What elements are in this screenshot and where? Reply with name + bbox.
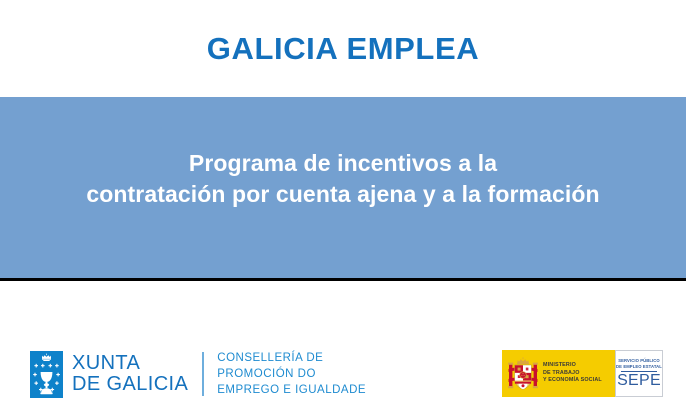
poster-root: GALICIA EMPLEA Programa de incentivos a … [0,0,686,410]
ministerio-de-trabajo-logo: MINISTERIO DE TRABAJO Y ECONOMÍA SOCIAL [502,350,615,397]
title-area: GALICIA EMPLEA [0,0,686,97]
conselleria-line-1: CONSELLERÍA DE [217,350,366,366]
xunta-de-galicia-logo: XUNTA DE GALICIA CONSELLERÍA DE PROMOCIÓ… [30,350,366,398]
banner-line-1: Programa de incentivos a la [0,148,686,178]
program-banner: Programa de incentivos a la contratación… [0,97,686,281]
ministerio-line-1: MINISTERIO [543,362,602,370]
conselleria-line-3: EMPREGO E IGUALDADE [217,382,366,398]
xunta-wordmark-line-1: XUNTA [72,353,188,374]
banner-line-2: contratación por cuenta ajena y a la for… [0,179,686,209]
ministerio-line-3: Y ECONOMÍA SOCIAL [543,377,602,385]
xunta-wordmark: XUNTA DE GALICIA [72,353,188,395]
banner-text-block: Programa de incentivos a la contratación… [0,148,686,227]
ministerio-text: MINISTERIO DE TRABAJO Y ECONOMÍA SOCIAL [543,362,602,385]
page-title: GALICIA EMPLEA [207,33,479,64]
conselleria-line-2: PROMOCIÓN DO [217,366,366,382]
government-logos-group: MINISTERIO DE TRABAJO Y ECONOMÍA SOCIAL … [502,350,663,397]
spain-coat-of-arms-icon [508,355,538,393]
sepe-logo: SERVICIO PÚBLICO DE EMPLEO ESTATAL SEPE [615,350,663,397]
galicia-coat-of-arms-icon [30,351,63,398]
sepe-subtitle: SERVICIO PÚBLICO DE EMPLEO ESTATAL [616,358,662,370]
xunta-wordmark-line-2: DE GALICIA [72,374,188,395]
conselleria-text: CONSELLERÍA DE PROMOCIÓN DO EMPREGO E IG… [217,350,366,399]
sepe-subtitle-line-1: SERVICIO PÚBLICO [616,358,662,364]
sepe-subtitle-line-2: DE EMPLEO ESTATAL [616,364,662,370]
sepe-acronym: SEPE [617,373,661,389]
logo-divider [202,352,204,396]
